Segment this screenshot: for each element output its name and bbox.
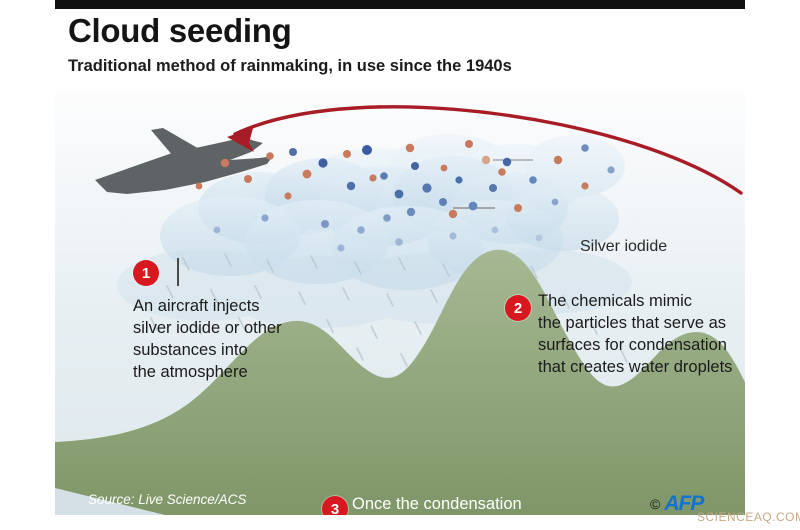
callout-1-leader (177, 258, 179, 286)
callout-2-text: The chemicals mimic the particles that s… (538, 290, 732, 378)
illustration-scene: 1 An aircraft injects silver iodide or o… (55, 90, 745, 515)
callout-3-text: Once the condensation creates water drop… (352, 493, 594, 515)
callout-1-badge: 1 (133, 260, 159, 286)
afp-credit: © AFP (650, 492, 703, 516)
page-title: Cloud seeding (68, 14, 291, 47)
page-subtitle: Traditional method of rainmaking, in use… (68, 58, 512, 75)
top-rule (55, 0, 745, 9)
callout-2-badge: 2 (505, 295, 531, 321)
site-watermark: SCIENCEAQ.COM (697, 510, 800, 524)
callout-2: 2 The chemicals mimic the particles that… (538, 290, 732, 378)
source-credit: Source: Live Science/ACS (88, 492, 246, 507)
silver-iodide-label: Silver iodide (580, 238, 667, 256)
callout-1: 1 An aircraft injects silver iodide or o… (133, 295, 282, 383)
infographic-page: Cloud seeding Traditional method of rain… (0, 0, 800, 530)
callout-1-text: An aircraft injects silver iodide or oth… (133, 295, 282, 383)
callout-3: 3 Once the condensation creates water dr… (352, 493, 594, 515)
copyright-icon: © (650, 496, 660, 512)
callout-3-badge: 3 (322, 496, 348, 515)
